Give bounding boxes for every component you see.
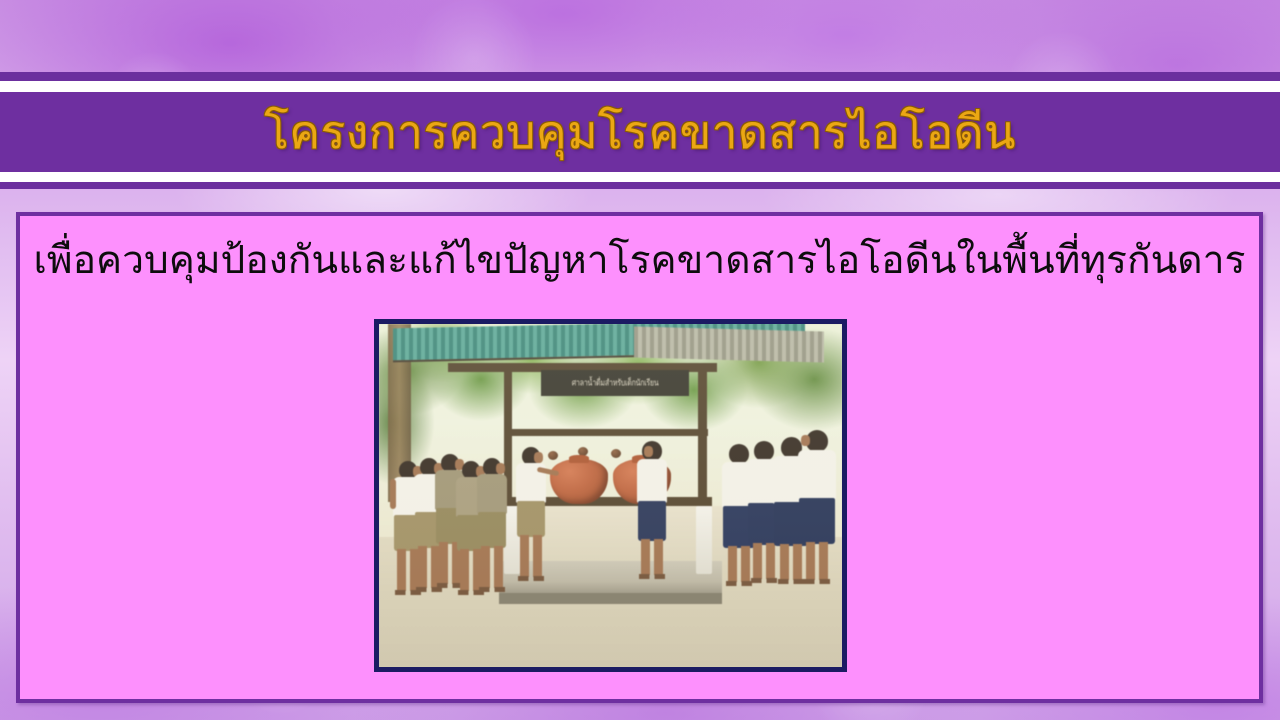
photo-student-shorts <box>478 512 506 548</box>
header-gap-top <box>0 81 1280 92</box>
photo-student-shirt <box>798 450 836 500</box>
photo-students-at-water-station: ศาลาน้ำดื่มสำหรับเด็กนักเรียน <box>379 324 842 667</box>
photo-hanging-gourd <box>611 449 621 458</box>
header-gap-bottom <box>0 172 1280 182</box>
photo-platform-edge <box>499 593 721 603</box>
photo-sign-board: ศาลาน้ำดื่มสำหรับเด็กนักเรียน <box>541 370 689 396</box>
photo-student-face <box>644 446 653 457</box>
content-panel: เพื่อควบคุมป้องกันและแก้ไขปัญหาโรคขาดสาร… <box>16 212 1263 703</box>
photo-student-skirt <box>638 501 666 541</box>
photo-post-right <box>698 365 706 516</box>
photo-student-face <box>534 452 543 463</box>
photo-student-legs <box>641 539 663 575</box>
presentation-slide: โครงการควบคุมโรคขาดสารไอโอดีน เพื่อควบคุ… <box>0 0 1280 720</box>
photo-student-dipping-water <box>511 447 551 555</box>
photo-student-arm <box>390 479 396 509</box>
header-rule-top <box>0 72 1280 81</box>
photo-student-center <box>631 441 673 561</box>
photo-sign-text: ศาลาน้ำดื่มสำหรับเด็กนักเรียน <box>572 376 659 390</box>
photo-student-shirt <box>637 459 667 503</box>
body-text: เพื่อควบคุมป้องกันและแก้ไขปัญหาโรคขาดสาร… <box>20 240 1259 283</box>
title-banner: โครงการควบคุมโรคขาดสารไอโอดีน <box>0 92 1280 172</box>
photo-hanging-cloth <box>696 506 712 575</box>
photo-student-skirt <box>799 498 835 544</box>
photo-student-shirt <box>477 474 507 514</box>
photo-student-face <box>801 435 810 446</box>
photo-student-shorts <box>517 501 545 537</box>
photo-beam-middle <box>504 429 708 437</box>
slide-title: โครงการควบคุมโรคขาดสารไอโอดีน <box>264 109 1016 155</box>
photo-student-legs <box>481 546 503 588</box>
photo-student-legs <box>520 535 542 577</box>
photo-secondary-roof <box>634 327 824 363</box>
photo-frame: ศาลาน้ำดื่มสำหรับเด็กนักเรียน <box>374 319 847 672</box>
photo-student-face <box>496 463 505 474</box>
photo-student-legs <box>806 542 828 580</box>
photo-student <box>472 458 512 568</box>
header-rule-bottom <box>0 182 1280 189</box>
photo-student <box>793 430 841 564</box>
